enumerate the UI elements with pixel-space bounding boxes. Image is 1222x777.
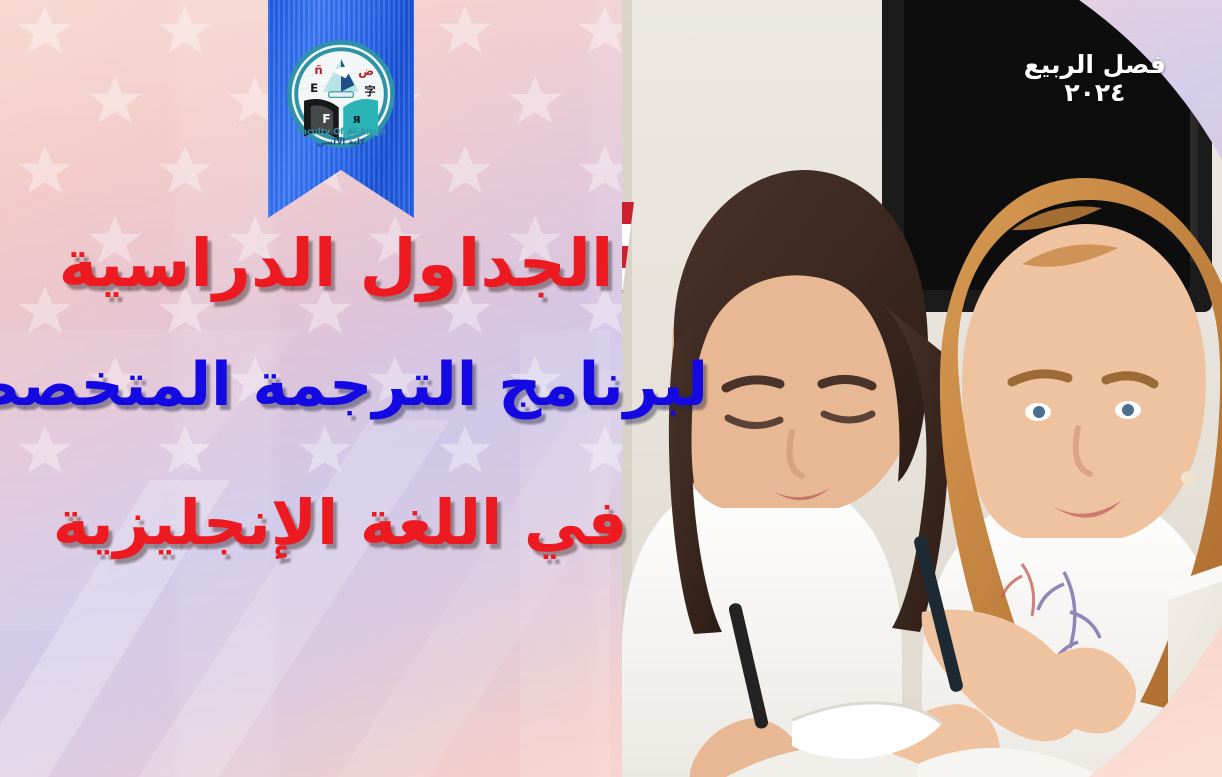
hanging-banner: ñ E ض 字 F я Faculty Of Al-Alsun كلية الأ… — [268, 0, 414, 218]
headline-line-2: لبرنامج الترجمة المتخصصة — [0, 353, 712, 418]
photo-circle-mask — [622, 0, 1222, 777]
poster-root: فصل الربيع ٢٠٢٤ ñ E ض 字 — [0, 0, 1222, 777]
photo-panel — [622, 0, 1222, 777]
svg-text:я: я — [353, 112, 361, 126]
svg-text:F: F — [322, 112, 330, 126]
faculty-logo-icon: ñ E ض 字 F я Faculty Of Al-Alsun كلية الأ… — [285, 38, 397, 150]
study-scene-illustration — [622, 0, 1222, 777]
svg-text:字: 字 — [365, 84, 376, 98]
svg-text:ñ: ñ — [314, 63, 322, 77]
headline-line-3: في اللغة الإنجليزية — [0, 490, 712, 557]
logo-title-en: Faculty Of Al-Alsun — [296, 126, 386, 136]
svg-text:ض: ض — [358, 64, 374, 78]
headline-line-1: الجداول الدراسية — [0, 228, 712, 299]
svg-text:E: E — [310, 81, 318, 95]
logo-title-ar: كلية الألسن — [317, 136, 365, 147]
headline-block: الجداول الدراسية لبرنامج الترجمة المتخصص… — [0, 228, 712, 557]
